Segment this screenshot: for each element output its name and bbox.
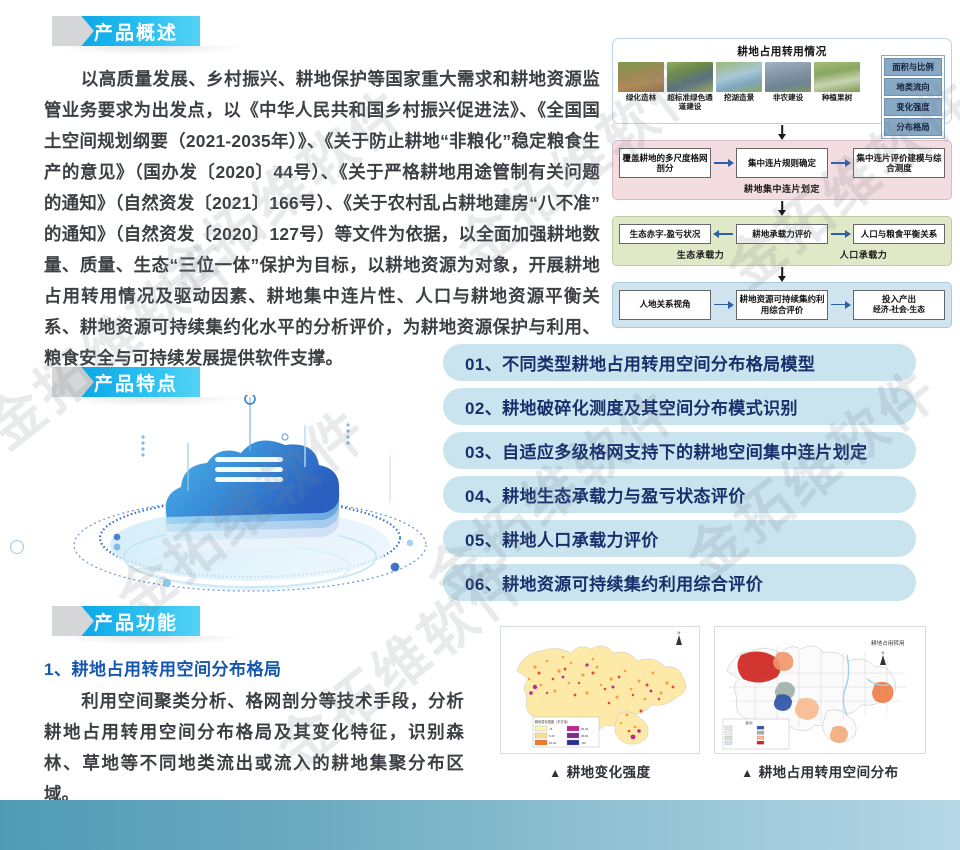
- diagram-band-captions: 生态承载力 人口承载力: [619, 248, 945, 261]
- thumb-item: 挖湖造景: [716, 62, 762, 111]
- svg-text:5-15: 5-15: [549, 734, 555, 738]
- function-item-body-text: 利用空间聚类分析、格网剖分等技术手段，分析耕地占用转用空间分布格局及其变化特征，…: [44, 691, 464, 804]
- svg-text:N: N: [678, 630, 681, 635]
- diagram-node-line2: 经济-社会-生态: [873, 305, 925, 316]
- diagram-band-caption: 耕地集中连片划定: [619, 182, 945, 195]
- section-badge-features-label: 产品特点: [80, 367, 200, 397]
- diagram-band-comprehensive: 人地关系视角 耕地资源可持续集约利用综合评价 投入产出 经济-社会-生态: [612, 282, 952, 328]
- map-title: 耕地占用转用: [871, 639, 905, 647]
- poster-page: 产品概述 以高质量发展、乡村振兴、耕地保护等国家重大需求和耕地资源监管业务要求为…: [0, 0, 960, 850]
- photo-orchard-icon: [814, 62, 860, 92]
- diagram-tag: 地类流向: [884, 78, 942, 96]
- diagram-node-row: 人地关系视角 耕地资源可持续集约利用综合评价 投入产出 经济-社会-生态: [619, 290, 945, 320]
- triangle-icon: ▲: [549, 766, 561, 780]
- overview-paragraph-text: 以高质量发展、乡村振兴、耕地保护等国家重大需求和耕地资源监管业务要求为出发点，以…: [44, 69, 600, 368]
- svg-text:耕地变化强度（平方米）: 耕地变化强度（平方米）: [535, 719, 570, 724]
- flow-diagram: 耕地占用转用情况 绿化造林 超标准绿色通道建设 挖湖造景 非农建设: [612, 38, 952, 338]
- triangle-icon: ▲: [741, 766, 753, 780]
- diagram-tag: 面积与比例: [884, 58, 942, 76]
- section-badge-functions-label: 产品功能: [80, 606, 200, 636]
- section-badge-features: 产品特点: [52, 367, 200, 397]
- diagram-band-caption: 生态承载力: [619, 248, 782, 261]
- diagram-band-carrying-capacity: 生态赤字-盈亏状况 耕地承载力评价 人口与粮食平衡关系 生态承载力 人口承载力: [612, 216, 952, 266]
- down-arrow-icon: [612, 266, 952, 282]
- photo-green-corridor-icon: [667, 62, 713, 92]
- diagram-tag: 变化强度: [884, 98, 942, 116]
- diagram-node: 集中连片规则确定: [736, 148, 828, 178]
- map-legend: 耕地变化强度（平方米） <5 5-15 15-30 30-45 45-60 >6…: [533, 717, 599, 747]
- dot-column-left: [141, 435, 144, 456]
- accent-dot: [114, 534, 121, 541]
- map-caption: ▲耕地占用转用空间分布: [714, 761, 926, 781]
- diagram-node: 人地关系视角: [619, 290, 711, 320]
- footer-gradient-bar: [0, 800, 960, 850]
- down-arrow-icon: [612, 200, 952, 216]
- feature-item-02[interactable]: 02、耕地破碎化测度及其空间分布模式识别: [443, 388, 916, 425]
- right-arrow-icon: [828, 159, 853, 167]
- thumb-item: 超标准绿色通道建设: [667, 62, 713, 111]
- photo-afforestation-icon: [618, 62, 664, 92]
- diagram-band-caption: 人口承载力: [782, 248, 945, 261]
- thumb-item: 绿化造林: [618, 62, 664, 111]
- diagram-node-row: 覆盖耕地的多尺度格网剖分 集中连片规则确定 集中连片评价建模与综合测度: [619, 148, 945, 178]
- diagram-node: 覆盖耕地的多尺度格网剖分: [619, 148, 711, 178]
- section-badge-functions: 产品功能: [52, 606, 200, 636]
- map-change-intensity: N 耕地变化强度（平方米） <5 5-15 15-30 30-45 45-60: [501, 627, 700, 754]
- map-transfer-distribution: 耕地占用转用 N 图 例: [715, 627, 926, 754]
- cloud-database-illustration: [55, 395, 445, 605]
- down-arrow-icon: [612, 124, 952, 140]
- thumb-item: 非农建设: [765, 62, 811, 111]
- accent-dot: [163, 579, 171, 587]
- feature-item-04[interactable]: 04、耕地生态承载力与盈亏状态评价: [443, 476, 916, 513]
- accent-dot: [114, 544, 121, 551]
- map-caption-text: 耕地变化强度: [567, 765, 651, 780]
- svg-text:15-30: 15-30: [549, 741, 557, 745]
- function-item-body: 利用空间聚类分析、格网剖分等技术手段，分析耕地占用转用空间分布格局及其变化特征，…: [44, 686, 464, 810]
- thumb-label: 挖湖造景: [716, 93, 762, 102]
- accent-dot: [391, 563, 400, 572]
- accent-dot: [407, 540, 414, 547]
- right-arrow-icon: [828, 230, 853, 238]
- thumb-label: 超标准绿色通道建设: [667, 93, 713, 111]
- diagram-node: 耕地承载力评价: [736, 224, 828, 244]
- map-frame[interactable]: 耕地占用转用 N 图 例: [714, 626, 926, 754]
- feature-item-06[interactable]: 06、耕地资源可持续集约利用综合评价: [443, 564, 916, 601]
- thumb-label: 绿化造林: [618, 93, 664, 102]
- feature-item-01[interactable]: 01、不同类型耕地占用转用空间分布格局模型: [443, 344, 916, 381]
- badge-shadow-functions: [56, 636, 246, 645]
- node-dot-icon: [282, 434, 288, 440]
- map-caption-text: 耕地占用转用空间分布: [759, 765, 899, 780]
- map-card-change-intensity: N 耕地变化强度（平方米） <5 5-15 15-30 30-45 45-60: [500, 626, 700, 781]
- map-frame[interactable]: N 耕地变化强度（平方米） <5 5-15 15-30 30-45 45-60: [500, 626, 700, 754]
- overview-paragraph: 以高质量发展、乡村振兴、耕地保护等国家重大需求和耕地资源监管业务要求为出发点，以…: [44, 64, 600, 374]
- svg-text:>60: >60: [581, 741, 586, 745]
- data-lines-icon: [215, 457, 283, 482]
- feature-item-03[interactable]: 03、自适应多级格网支持下的耕地空间集中连片划定: [443, 432, 916, 469]
- diagram-node: 集中连片评价建模与综合测度: [853, 148, 945, 178]
- feature-item-05[interactable]: 05、耕地人口承载力评价: [443, 520, 916, 557]
- right-arrow-icon: [711, 159, 736, 167]
- dot-column-right: [346, 423, 349, 444]
- feature-list: 01、不同类型耕地占用转用空间分布格局模型 02、耕地破碎化测度及其空间分布模式…: [443, 344, 916, 608]
- section-badge-overview: 产品概述: [52, 16, 200, 46]
- badge-shadow-overview: [56, 46, 246, 55]
- section-badge-overview-label: 产品概述: [80, 16, 200, 46]
- map-caption: ▲耕地变化强度: [500, 761, 700, 781]
- diagram-node-line1: 投入产出: [882, 294, 916, 305]
- svg-text:图 例: 图 例: [746, 720, 753, 725]
- cloud-stack: [166, 441, 340, 552]
- left-arrow-icon: [711, 230, 736, 238]
- diagram-band-consolidation: 覆盖耕地的多尺度格网剖分 集中连片规则确定 集中连片评价建模与综合测度 耕地集中…: [612, 140, 952, 200]
- thumb-label: 非农建设: [765, 93, 811, 102]
- diagram-node: 生态赤字-盈亏状况: [619, 224, 711, 244]
- photo-nonfarm-construction-icon: [765, 62, 811, 92]
- right-arrow-icon: [828, 301, 853, 309]
- diagram-top-panel: 耕地占用转用情况 绿化造林 超标准绿色通道建设 挖湖造景 非农建设: [612, 38, 952, 124]
- decorative-circle-icon: [10, 540, 24, 554]
- thumb-item: 种植果树: [814, 62, 860, 111]
- map-legend: 图 例: [723, 719, 789, 749]
- right-arrow-icon: [711, 301, 736, 309]
- thumb-label: 种植果树: [814, 93, 860, 102]
- function-item-title: 1、耕地占用转用空间分布格局: [44, 655, 281, 680]
- map-card-transfer-distribution: 耕地占用转用 N 图 例: [714, 626, 926, 781]
- svg-text:45-60: 45-60: [581, 734, 589, 738]
- diagram-node-row: 生态赤字-盈亏状况 耕地承载力评价 人口与粮食平衡关系: [619, 224, 945, 244]
- svg-text:30-45: 30-45: [581, 727, 589, 731]
- diagram-node: 投入产出 经济-社会-生态: [853, 290, 945, 320]
- svg-text:N: N: [882, 650, 885, 655]
- svg-text:<5: <5: [549, 727, 553, 731]
- diagram-node: 人口与粮食平衡关系: [853, 224, 945, 244]
- photo-lake-landscape-icon: [716, 62, 762, 92]
- diagram-node: 耕地资源可持续集约利用综合评价: [736, 290, 828, 320]
